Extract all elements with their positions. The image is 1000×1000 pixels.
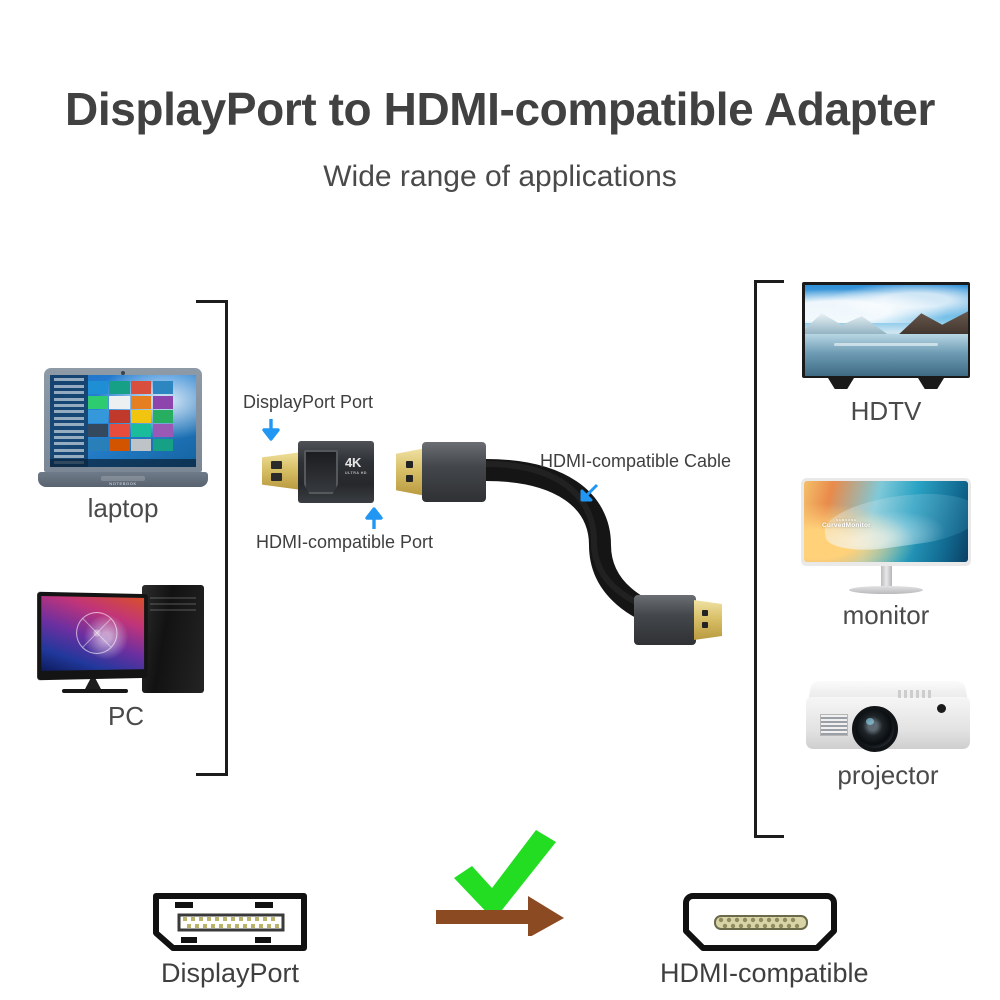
device-label-pc: PC bbox=[38, 701, 214, 732]
cable-hdmi-hood-right bbox=[634, 595, 696, 645]
hdtv-screen bbox=[805, 285, 968, 376]
arrow-down-blue-icon bbox=[258, 416, 284, 442]
callout-hdmi-port: HDMI-compatible Port bbox=[256, 532, 433, 553]
ferris-wheel-graphic bbox=[76, 612, 117, 654]
projector-vent bbox=[820, 714, 848, 736]
hdmi-connector-icon bbox=[681, 893, 839, 951]
hdtv-water-graphic bbox=[805, 334, 968, 376]
windows-start-tiles bbox=[88, 381, 173, 451]
windows-start-sidebar bbox=[50, 375, 88, 467]
curved-monitor-icon: SAMSUNG CurvedMonitor bbox=[801, 478, 971, 566]
device-projector: projector bbox=[800, 680, 976, 791]
page-title: DisplayPort to HDMI-compatible Adapter bbox=[0, 82, 1000, 136]
connector-label-displayport: DisplayPort bbox=[140, 958, 320, 989]
laptop-screen bbox=[50, 375, 196, 467]
monitor-base bbox=[849, 586, 923, 594]
cable-hdmi-plug-left bbox=[396, 448, 426, 496]
connector-label-hdmi: HDMI-compatible bbox=[660, 958, 860, 989]
monitor-neck bbox=[881, 566, 892, 586]
hdtv-foot-right bbox=[918, 378, 944, 389]
monitor-screen-brand-main: CurvedMonitor bbox=[822, 522, 871, 529]
device-label-laptop: laptop bbox=[38, 493, 208, 524]
laptop-brand-mark: NOTEBOOK bbox=[109, 481, 136, 486]
monitor-screen: SAMSUNG CurvedMonitor bbox=[804, 481, 968, 562]
page-subtitle: Wide range of applications bbox=[0, 160, 1000, 194]
hdtv-stand bbox=[800, 378, 972, 390]
projector-knob bbox=[937, 704, 946, 713]
adapter-4k-text: 4K bbox=[345, 455, 361, 470]
callout-displayport-port: DisplayPort Port bbox=[243, 392, 373, 413]
compatibility-indicator bbox=[432, 826, 582, 936]
pc-monitor-foot bbox=[62, 689, 128, 693]
cable-hdmi-plug-right bbox=[694, 600, 722, 640]
projector-icon bbox=[804, 680, 972, 754]
laptop-camera-icon bbox=[121, 371, 125, 375]
laptop-keyboard-base: NOTEBOOK bbox=[38, 472, 208, 487]
device-label-monitor: monitor bbox=[800, 600, 972, 631]
hdtv-foot-left bbox=[828, 378, 854, 389]
callout-hdmi-cable: HDMI-compatible Cable bbox=[540, 451, 731, 472]
arrow-diagonal-blue-icon bbox=[578, 482, 600, 504]
adapter-body: 4K ULTRA HD bbox=[298, 441, 374, 503]
television-icon bbox=[802, 282, 970, 378]
pc-screen bbox=[41, 596, 144, 671]
infographic-canvas: DisplayPort to HDMI-compatible Adapter W… bbox=[0, 0, 1000, 1000]
device-label-hdtv: HDTV bbox=[800, 396, 972, 427]
arrow-up-blue-icon bbox=[362, 506, 386, 532]
connector-hdmi: HDMI-compatible bbox=[660, 893, 860, 989]
pc-tower bbox=[142, 585, 204, 693]
pc-monitor bbox=[37, 592, 148, 680]
projector-lens bbox=[852, 706, 898, 752]
desktop-pc-icon bbox=[38, 585, 214, 695]
device-laptop: NOTEBOOK laptop bbox=[38, 368, 208, 524]
displayport-connector-icon bbox=[151, 893, 309, 951]
display-devices-bracket bbox=[754, 280, 784, 838]
laptop-icon bbox=[44, 368, 202, 472]
device-pc: PC bbox=[38, 585, 214, 732]
cable-hdmi-hood-left bbox=[422, 442, 486, 502]
hdtv-sky-graphic bbox=[805, 285, 968, 323]
projector-control-buttons bbox=[898, 690, 932, 698]
connector-displayport: DisplayPort bbox=[140, 893, 320, 989]
monitor-screen-brand: SAMSUNG CurvedMonitor bbox=[822, 518, 871, 529]
monitor-screen-brand-sub: SAMSUNG bbox=[822, 518, 871, 522]
device-label-projector: projector bbox=[800, 760, 976, 791]
device-monitor: SAMSUNG CurvedMonitor monitor bbox=[800, 478, 972, 631]
adapter-displayport-plug bbox=[262, 452, 302, 490]
adapter-4k-marking: 4K ULTRA HD bbox=[345, 455, 367, 475]
windows-taskbar bbox=[50, 459, 196, 467]
adapter-4k-subtext: ULTRA HD bbox=[345, 471, 367, 475]
device-hdtv: HDTV bbox=[800, 282, 972, 427]
adapter-hdmi-female-port bbox=[304, 450, 338, 494]
